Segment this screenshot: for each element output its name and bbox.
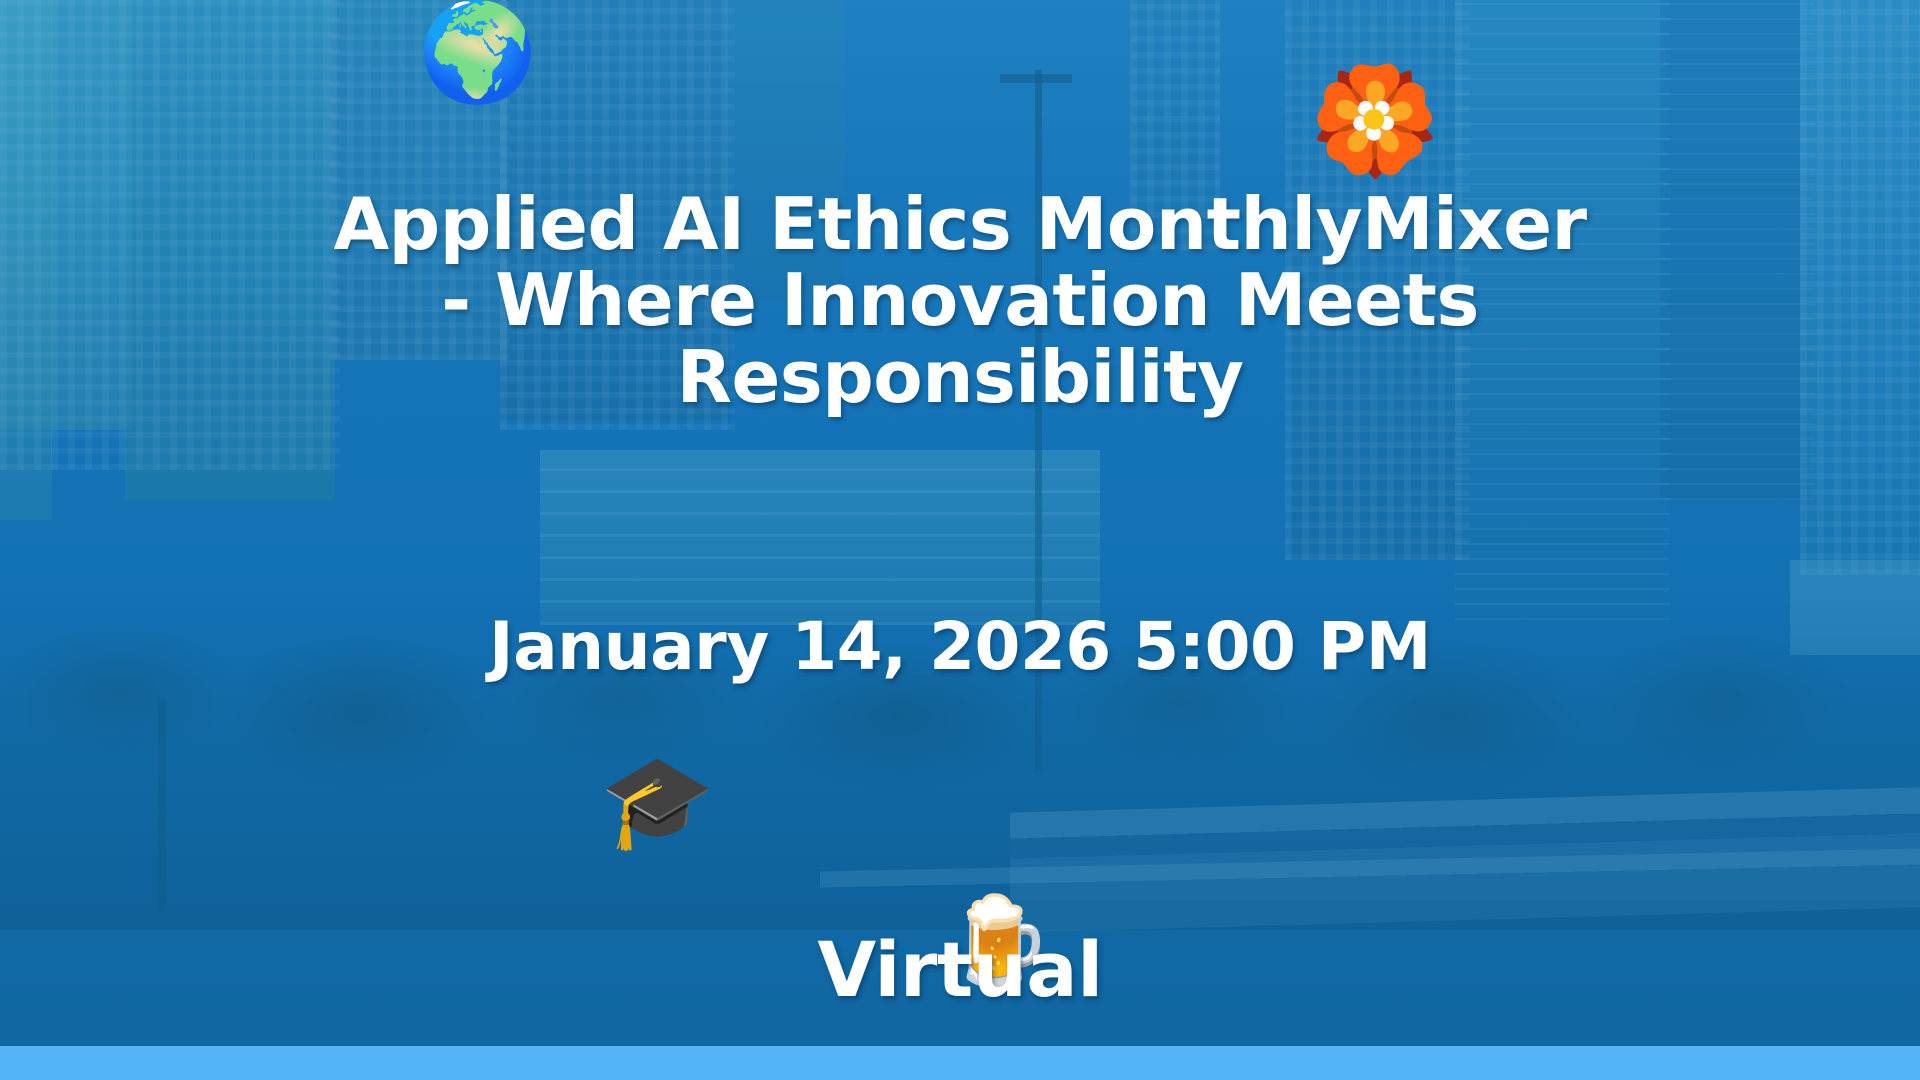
event-location: Virtual — [0, 930, 1920, 1011]
graduation-cap-icon: 🎓 — [600, 756, 715, 848]
event-poster: 🌍 🏵️ 🎓 🍺 Applied AI Ethics MonthlyMixer … — [0, 0, 1920, 1080]
event-date: January 14, 2026 5:00 PM — [0, 612, 1920, 682]
globe-icon: 🌍 — [418, 4, 538, 100]
event-title: Applied AI Ethics MonthlyMixer - Where I… — [0, 186, 1920, 415]
rosette-flower-icon: 🏵️ — [1310, 68, 1440, 172]
